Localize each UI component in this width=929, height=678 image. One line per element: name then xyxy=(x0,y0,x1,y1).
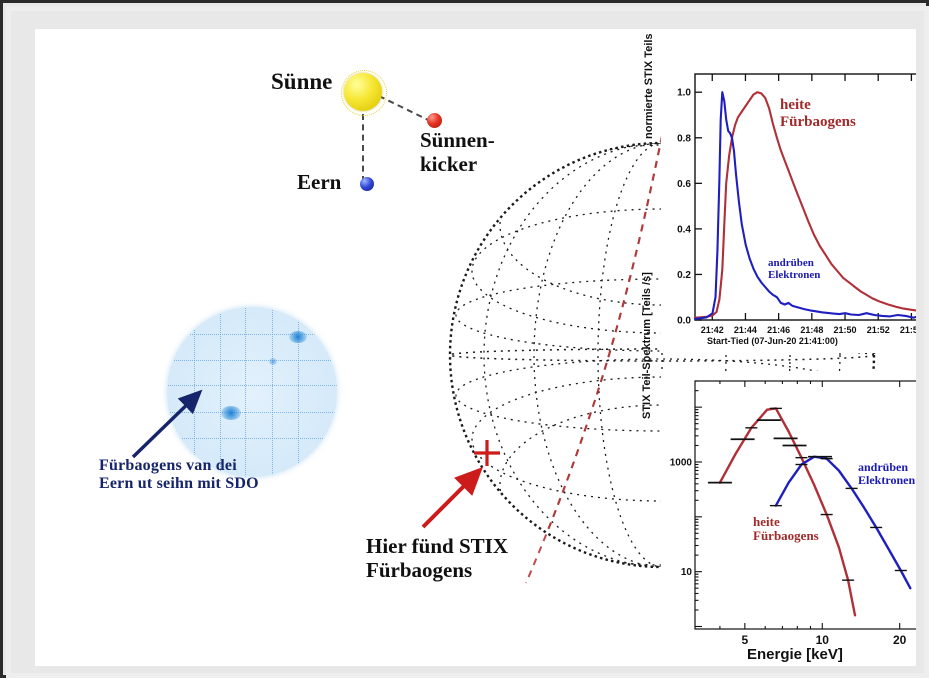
svg-text:21:52: 21:52 xyxy=(867,325,890,335)
earth-label: Eern xyxy=(297,171,341,195)
svg-text:21:50: 21:50 xyxy=(834,325,857,335)
svg-text:10: 10 xyxy=(681,567,693,578)
spectrum-thermal-annotation: heite Fürbaogens xyxy=(753,515,819,544)
svg-text:1000: 1000 xyxy=(670,457,693,468)
svg-text:1.0: 1.0 xyxy=(677,88,691,99)
sun-icon xyxy=(344,73,382,111)
stix-arrow-icon xyxy=(417,461,499,533)
earth-icon xyxy=(360,177,374,191)
svg-text:0.8: 0.8 xyxy=(677,133,691,144)
spectrum-y-axis-label: STIX Teil-Spektrum [Teils /s] xyxy=(641,219,653,419)
spectrum-electron-annotation: andrüben Elektronen xyxy=(858,461,915,487)
time-profile-thermal-annotation: heite Fürbaogens xyxy=(780,97,856,130)
figure-mat: Sünne Sünnen- kicker Eern xyxy=(6,6,929,678)
stix-viewing-limb-line xyxy=(526,121,677,583)
svg-text:0.0: 0.0 xyxy=(677,316,691,327)
sun-spacecraft-line xyxy=(379,95,432,122)
figure-outer-frame: Sünne Sünnen- kicker Eern xyxy=(0,0,929,678)
svg-text:21:44: 21:44 xyxy=(734,325,757,335)
spectrum-x-axis-label: Energie [keV] xyxy=(747,646,843,663)
svg-text:21:46: 21:46 xyxy=(767,325,790,335)
time-profile-electron-annotation: andrüben Elektronen xyxy=(768,257,820,281)
sdo-arrow-icon xyxy=(127,385,213,463)
svg-text:0.4: 0.4 xyxy=(677,224,691,235)
svg-text:5: 5 xyxy=(742,633,749,647)
figure-canvas: Sünne Sünnen- kicker Eern xyxy=(35,29,916,666)
active-region-speck xyxy=(289,331,307,343)
spectrum-plot-frame xyxy=(695,381,916,629)
sdo-caption: Fürbaogens van dei Eern ut seihn mit SDO xyxy=(99,457,259,493)
sun-earth-line xyxy=(362,114,364,182)
svg-text:21:48: 21:48 xyxy=(800,325,823,335)
svg-text:0.2: 0.2 xyxy=(677,270,691,281)
svg-text:21:54: 21:54 xyxy=(900,325,916,335)
svg-text:20: 20 xyxy=(893,633,907,647)
stix-flare-annotation: Hier fünd STIX Fürbaogens xyxy=(366,535,508,582)
time-profile-y-axis-label: normierte STIX Teils xyxy=(643,33,655,139)
svg-text:0.6: 0.6 xyxy=(677,179,691,190)
active-region-speck xyxy=(269,358,277,365)
sun-label: Sünne xyxy=(271,69,332,95)
svg-text:10: 10 xyxy=(816,633,830,647)
svg-text:21:42: 21:42 xyxy=(701,325,724,335)
spacecraft-icon xyxy=(427,113,442,128)
active-region-speck xyxy=(221,406,241,420)
time-profile-x-axis-label: Start-Tied (07-Jun-20 21:41:00) xyxy=(707,336,838,346)
